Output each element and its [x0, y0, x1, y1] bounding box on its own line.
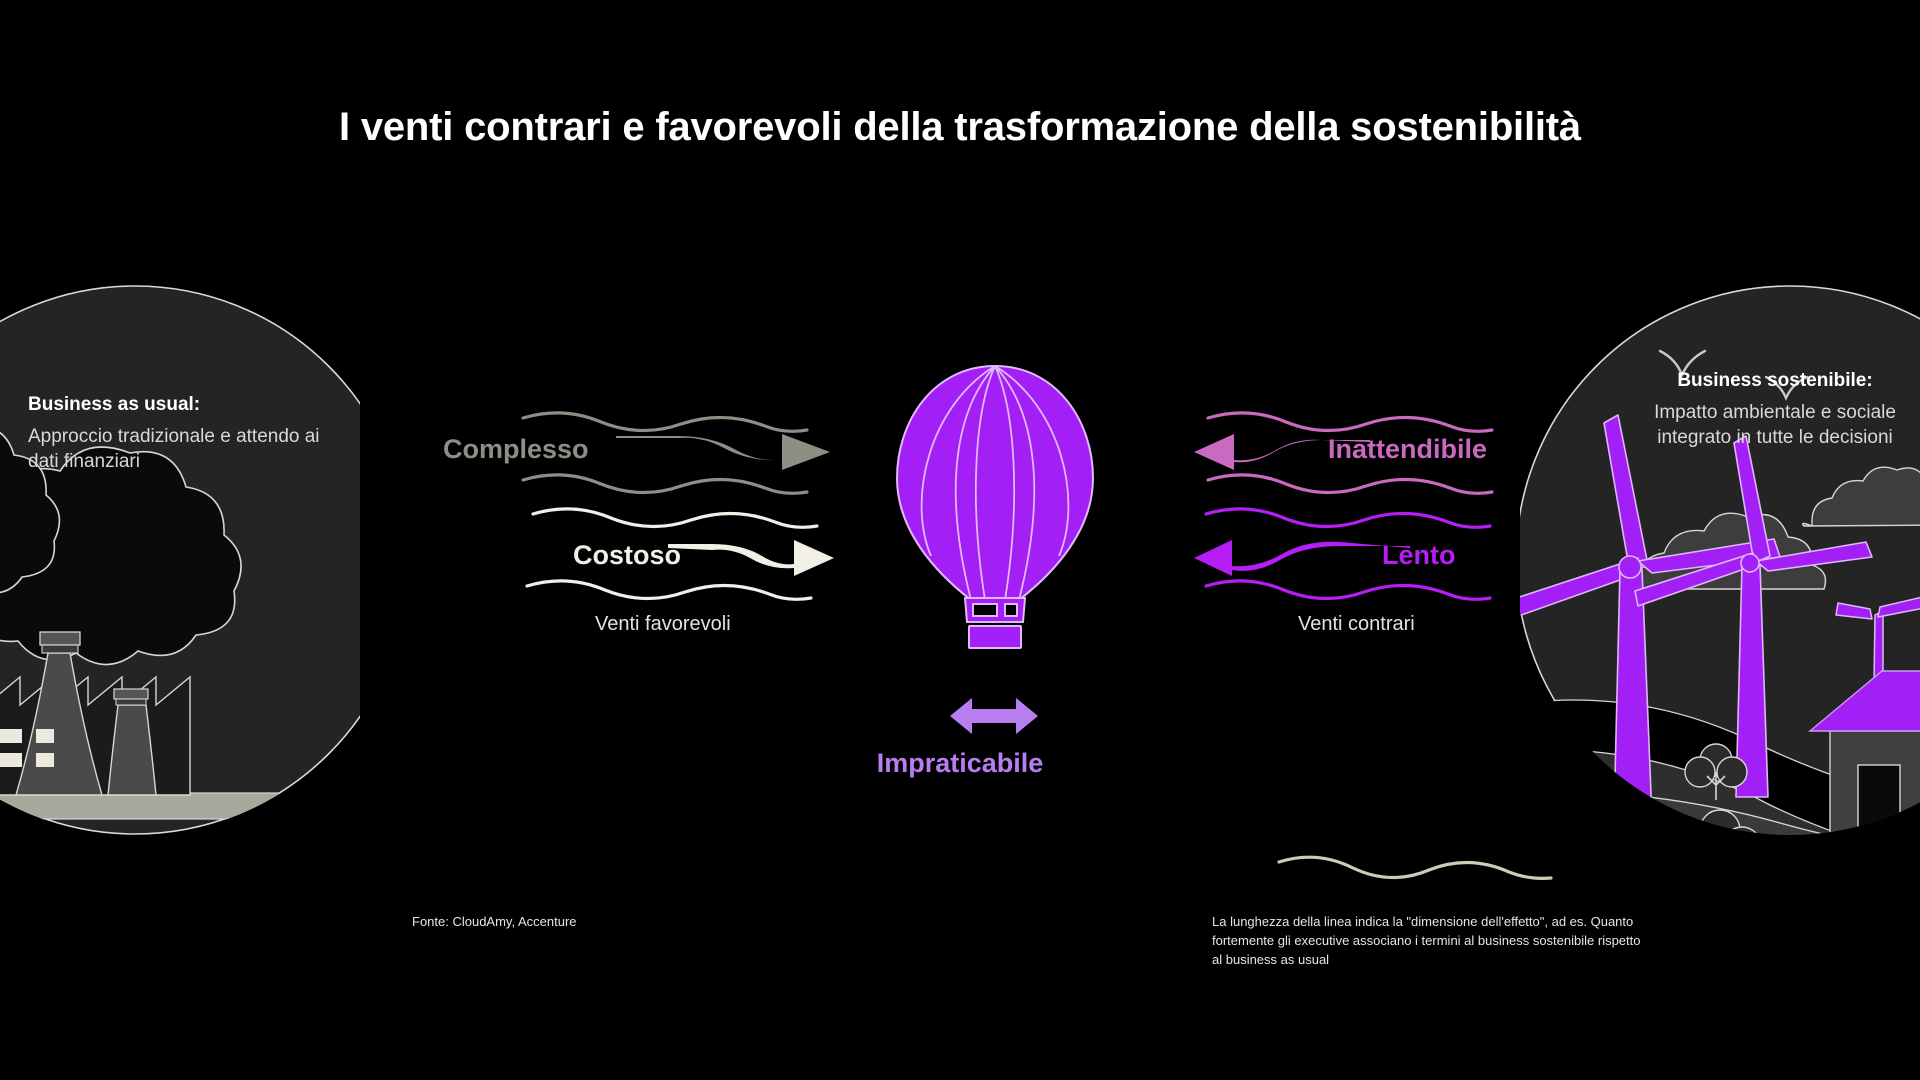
tailwinds-group-label: Venti favorevoli: [595, 613, 731, 636]
arrow-lento: [1190, 534, 1410, 582]
arrow-costoso: [668, 534, 840, 582]
wave-line: [1208, 475, 1492, 493]
wave-line: [533, 509, 817, 527]
wave-line: [1206, 509, 1490, 527]
impraticabile-label: Impraticabile: [0, 748, 1920, 779]
double-headed-horizontal-arrow-icon: [950, 692, 1038, 740]
page-title: I venti contrari e favorevoli della tras…: [0, 105, 1920, 150]
slide-canvas: I venti contrari e favorevoli della tras…: [0, 0, 1920, 1080]
arrow-complesso: [616, 428, 836, 476]
left-caption: Business as usual: Approccio tradizional…: [28, 392, 328, 474]
headwind-label-inattendibile: Inattendibile: [1328, 434, 1487, 465]
wave-line: [1206, 581, 1490, 599]
explanatory-footnote: La lunghezza della linea indica la "dime…: [1212, 912, 1642, 969]
wave-line: [527, 581, 811, 599]
balloon-envelope: [897, 366, 1093, 600]
tailwind-label-complesso: Complesso: [443, 434, 589, 465]
headwind-label-lento: Lento: [1382, 540, 1456, 571]
right-caption: Business sostenibile: Impatto ambientale…: [1640, 368, 1910, 450]
wave-line: [523, 475, 807, 493]
hot-air-balloon-icon: [885, 360, 1105, 650]
footnote-wave-line: [1275, 848, 1555, 888]
left-caption-heading: Business as usual:: [28, 392, 328, 417]
balloon-basket: [965, 598, 1025, 648]
left-caption-body: Approccio tradizionale e attendo ai dati…: [28, 424, 328, 474]
ground-strip: [0, 793, 300, 819]
headwinds-group-label: Venti contrari: [1298, 613, 1415, 636]
source-footnote: Fonte: CloudAmy, Accenture: [412, 912, 577, 931]
right-caption-body: Impatto ambientale e sociale integrato i…: [1640, 400, 1910, 450]
tailwind-label-costoso: Costoso: [573, 540, 681, 571]
right-caption-heading: Business sostenibile:: [1640, 368, 1910, 393]
